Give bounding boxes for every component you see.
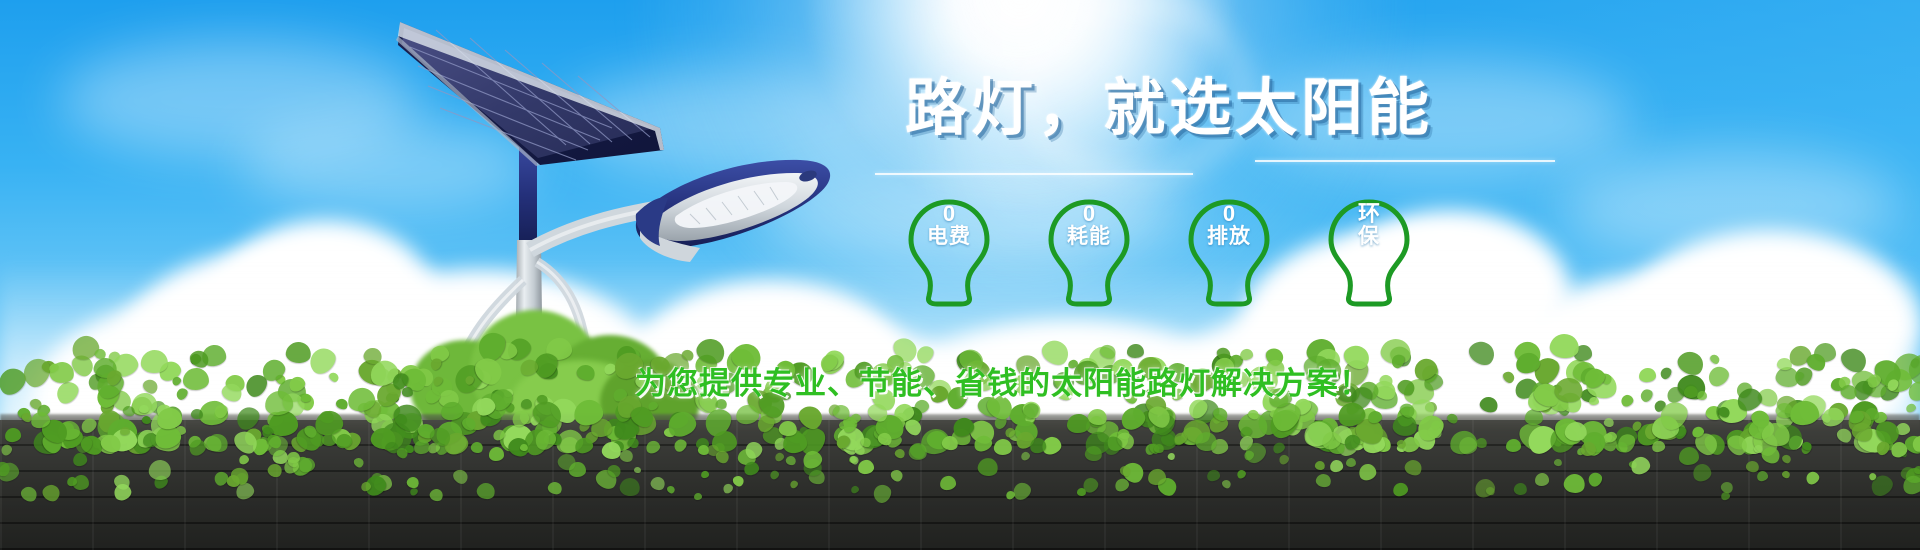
banner-copy: 路灯，就选太阳能 0 电费 0 耗能: [905, 78, 1545, 140]
cloud-wisp: [240, 120, 540, 210]
badge-number: 0: [901, 202, 997, 226]
badge-label: 保: [1321, 226, 1417, 249]
banner-root: [] 路灯，就选太阳能 0 电费 0 耗能: [0, 0, 1920, 550]
badge-text: 环 保: [1321, 202, 1417, 248]
badge-label: 耗能: [1041, 226, 1137, 249]
badge-text: 0 排放: [1181, 202, 1277, 248]
cloud-wisp: [1560, 150, 1900, 260]
tagline: 为您提供专业、节能、省钱的太阳能路灯解决方案！: [635, 358, 1595, 403]
badge-text: 0 耗能: [1041, 202, 1137, 248]
feature-badge: 环 保: [1321, 196, 1417, 308]
badge-label: 电费: [901, 226, 997, 249]
badge-text: 0 电费: [901, 202, 997, 248]
badge-number: 0: [1041, 202, 1137, 226]
feature-badge: 0 耗能: [1041, 196, 1137, 308]
feature-badge-list: 0 电费 0 耗能 0 排放: [901, 196, 1417, 308]
feature-badge: 0 排放: [1181, 196, 1277, 308]
badge-number: 环: [1321, 202, 1417, 226]
garden-wall: [0, 420, 1920, 550]
badge-number: 0: [1181, 202, 1277, 226]
badge-label: 排放: [1181, 226, 1277, 249]
divider-right: [1255, 160, 1555, 162]
feature-badge: 0 电费: [901, 196, 997, 308]
page-title: 路灯，就选太阳能: [905, 78, 1545, 140]
wall-tiles: [0, 420, 1920, 550]
divider-left: [875, 173, 1193, 175]
